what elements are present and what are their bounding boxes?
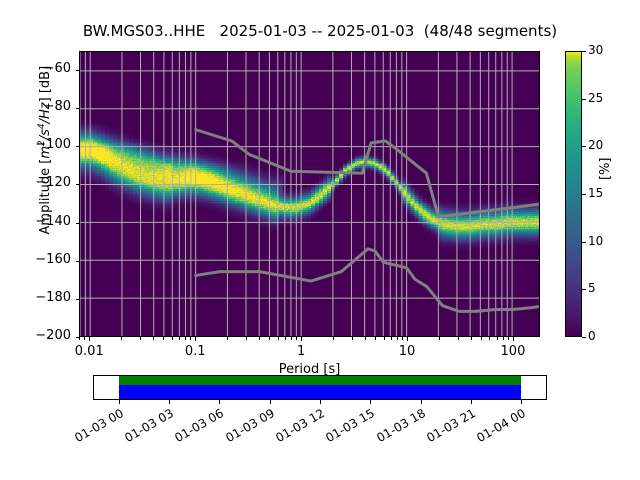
timeline-tick-mark [119,400,120,404]
x-tick-label: 100 [473,344,553,359]
x-tick-mark-minor [391,337,392,340]
timeline-tick-mark [320,400,321,404]
y-axis-units-num: m [38,146,53,159]
x-tick-mark-major [89,337,90,341]
x-tick-mark-minor [285,337,286,340]
colorbar-tick-label: 0 [588,329,596,343]
x-tick-mark-major [195,337,196,341]
x-tick-mark-minor [508,337,509,340]
x-tick-mark-minor [163,337,164,340]
y-tick-mark [76,146,80,147]
x-tick-label: 0.1 [155,344,235,359]
y-axis-units-sup2: 4 [37,123,47,129]
x-tick-mark-minor [278,337,279,340]
y-tick-mark [76,223,80,224]
x-tick-mark-minor [79,337,80,340]
x-tick-mark-minor [397,337,398,340]
y-axis-units-den: /s [38,129,53,140]
timeline-tick-mark [521,400,522,404]
colorbar-tick-label: 30 [588,43,603,57]
ppsd-plot-area [79,51,540,337]
colorbar-tick-mark [582,242,586,243]
x-tick-mark-minor [84,337,85,340]
x-tick-mark-minor [140,337,141,340]
colorbar-tick-mark [582,146,586,147]
colorbar-tick-label: 15 [588,186,603,200]
x-tick-mark-minor [190,337,191,340]
x-tick-mark-minor [458,337,459,340]
colorbar-tick-label: 25 [588,91,603,105]
y-tick-mark [76,184,80,185]
x-tick-mark-minor [439,337,440,340]
y-tick-mark [76,108,80,109]
timeline-tick-mark [270,400,271,404]
colorbar-tick-mark [582,99,586,100]
x-tick-mark-minor [365,337,366,340]
colorbar-tick-label: 5 [588,281,596,295]
y-axis-title: Amplitude [m2/s4/Hz] [dB] [37,20,53,280]
x-tick-mark-major [301,337,302,341]
data-coverage-bar [119,376,521,385]
y-tick-label: −200 [19,328,71,343]
y-tick-label: −180 [19,290,71,305]
x-tick-mark-major [407,337,408,341]
x-tick-mark-minor [153,337,154,340]
x-tick-mark-minor [503,337,504,340]
x-tick-mark-minor [227,337,228,340]
x-tick-mark-minor [489,337,490,340]
y-tick-mark [76,261,80,262]
x-tick-mark-minor [352,337,353,340]
x-tick-mark-minor [121,337,122,340]
x-tick-mark-minor [185,337,186,340]
y-tick-mark [76,70,80,71]
y-axis-title-suffix: ] [dB] [38,66,53,103]
y-axis-units-sup1: 2 [37,140,47,146]
x-tick-mark-minor [481,337,482,340]
timeline-tick-mark [421,400,422,404]
timeline-tick-mark [219,400,220,404]
x-tick-mark-minor [179,337,180,340]
colorbar-tick-mark [582,51,586,52]
colorbar-title: [%] [598,158,613,181]
noise-model-curves [80,52,539,336]
colorbar-tick-label: 10 [588,234,603,248]
x-tick-mark-minor [402,337,403,340]
x-tick-mark-minor [269,337,270,340]
x-tick-label: 0.01 [49,344,129,359]
x-tick-mark-minor [333,337,334,340]
y-axis-units-hz: /Hz [38,102,53,123]
x-tick-mark-minor [375,337,376,340]
x-tick-mark-minor [259,337,260,340]
x-tick-mark-minor [296,337,297,340]
colorbar-tick-mark [582,337,586,338]
x-tick-mark-major [513,337,514,341]
x-tick-mark-minor [291,337,292,340]
x-tick-label: 10 [367,344,447,359]
y-tick-mark [76,299,80,300]
colorbar [565,51,582,337]
colorbar-tick-label: 20 [588,138,603,152]
x-tick-mark-minor [246,337,247,340]
psd-coverage-bar [119,385,521,399]
colorbar-tick-mark [582,194,586,195]
timeline-tick-mark [370,400,371,404]
x-tick-mark-minor [497,337,498,340]
x-tick-mark-minor [471,337,472,340]
x-tick-mark-minor [384,337,385,340]
timeline-tick-mark [169,400,170,404]
y-axis-title-prefix: Amplitude [ [38,159,53,235]
x-tick-label: 1 [261,344,341,359]
timeline-tick-label: 01-03 00 [39,406,126,464]
coverage-timeline [93,375,547,400]
colorbar-tick-mark [582,289,586,290]
timeline-tick-mark [471,400,472,404]
x-tick-mark-minor [172,337,173,340]
page-title: BW.MGS03..HHE 2025-01-03 -- 2025-01-03 (… [0,22,640,40]
